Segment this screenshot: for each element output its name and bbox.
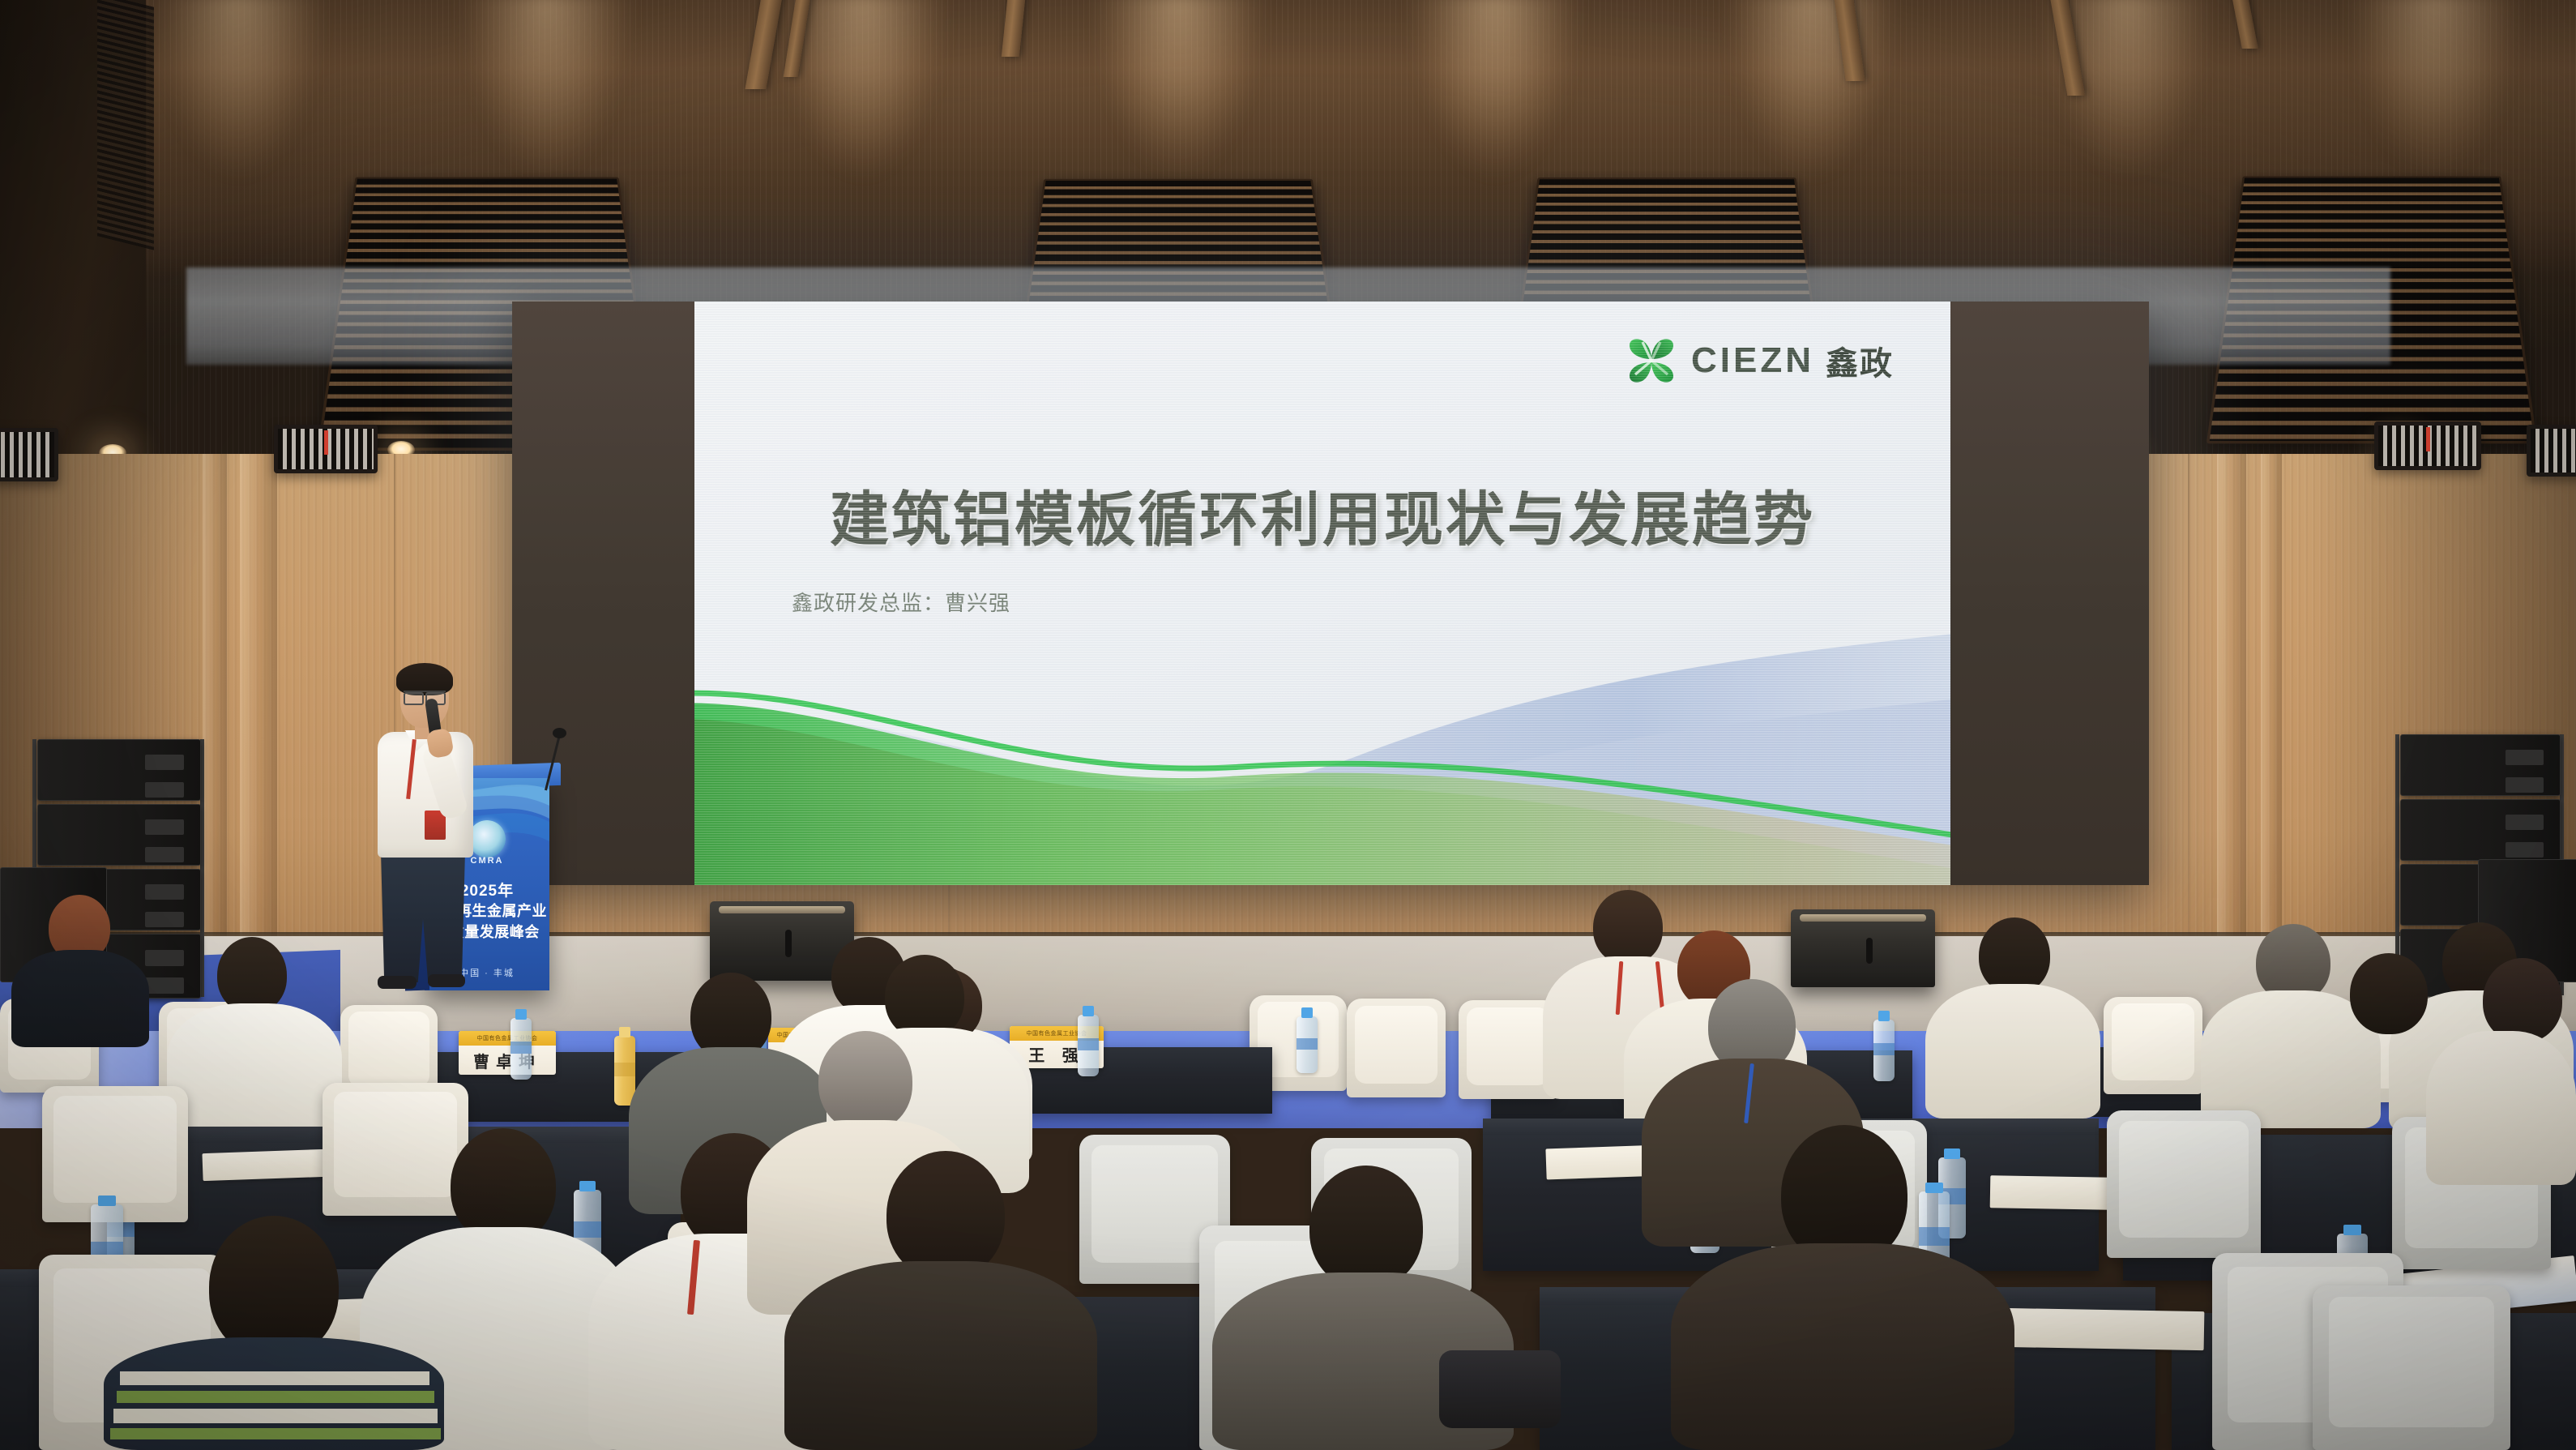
water-bottle bbox=[1873, 1020, 1895, 1081]
speaker-cabinet bbox=[37, 804, 201, 866]
wall-vent-grille bbox=[2374, 421, 2481, 470]
slide-title: 建筑铝模板循环利用现状与发展趋势 bbox=[694, 472, 1950, 558]
ciezn-pinwheel-icon bbox=[1625, 334, 1678, 387]
person-head bbox=[451, 1128, 556, 1243]
person-head bbox=[217, 937, 287, 1013]
wall-vent-grille bbox=[2527, 425, 2576, 477]
wall-pilaster bbox=[240, 454, 277, 989]
podium-mic-head bbox=[553, 728, 566, 738]
slide-subtitle: 鑫政研发总监：曹兴强 bbox=[792, 587, 1010, 617]
conference-hall-photo: CIEZN 鑫政 建筑铝模板循环利用现状与发展趋势 鑫政研发总监：曹兴强 CMR… bbox=[0, 0, 2576, 1450]
wall-pilaster bbox=[2217, 454, 2246, 989]
presenter-eyeglasses bbox=[404, 691, 446, 703]
wall-vent-grille bbox=[0, 428, 58, 481]
shirt-stripe bbox=[117, 1391, 434, 1403]
slide-logo: CIEZN 鑫政 bbox=[1625, 334, 1894, 387]
name-card-org: 中国有色金属工业协会 bbox=[459, 1031, 556, 1046]
person-head bbox=[1309, 1166, 1423, 1289]
speaker-cabinet bbox=[2400, 734, 2561, 796]
person-head bbox=[1593, 890, 1663, 965]
person-torso bbox=[2426, 1031, 2576, 1185]
cmra-logo-text: CMRA bbox=[471, 856, 504, 866]
person-torso bbox=[1671, 1243, 2014, 1450]
person-torso bbox=[11, 950, 149, 1047]
presentation-slide: CIEZN 鑫政 建筑铝模板循环利用现状与发展趋势 鑫政研发总监：曹兴强 bbox=[694, 302, 1950, 885]
chair bbox=[2107, 1110, 2261, 1258]
chair bbox=[1347, 999, 1446, 1097]
person-head bbox=[818, 1031, 912, 1131]
cmra-logo-icon bbox=[468, 820, 506, 858]
floor-bag bbox=[1439, 1350, 1561, 1428]
wall-pilaster bbox=[2261, 454, 2282, 989]
led-screen: CIEZN 鑫政 建筑铝模板循环利用现状与发展趋势 鑫政研发总监：曹兴强 bbox=[512, 302, 2149, 885]
water-bottle bbox=[1297, 1016, 1318, 1073]
ceiling-grille bbox=[97, 0, 154, 250]
chair bbox=[2104, 997, 2202, 1094]
presenter-shoe bbox=[428, 974, 465, 987]
ceiling-wash-light bbox=[146, 0, 332, 259]
name-card: 中国有色金属工业协会 曹卓坤 bbox=[459, 1031, 556, 1075]
speaker-cabinet bbox=[37, 739, 201, 801]
water-bottle bbox=[511, 1018, 532, 1080]
logo-chinese-text: 鑫政 bbox=[1826, 337, 1894, 384]
stage-monitor-speaker-right bbox=[1791, 909, 1935, 987]
wall-vent-grille bbox=[274, 425, 378, 473]
person-torso bbox=[1925, 984, 2100, 1119]
wall-seam bbox=[2188, 454, 2189, 989]
logo-latin-text: CIEZN bbox=[1691, 340, 1814, 381]
presenter-shoe bbox=[378, 976, 417, 989]
shirt-stripe bbox=[110, 1428, 441, 1439]
person-head bbox=[2483, 958, 2562, 1042]
person-torso bbox=[167, 1003, 342, 1133]
name-card-name: 曹卓坤 bbox=[459, 1046, 556, 1075]
speaker-cabinet bbox=[2400, 799, 2561, 861]
logo-wordmark: CIEZN 鑫政 bbox=[1691, 337, 1894, 384]
person-head bbox=[885, 955, 964, 1039]
notepad bbox=[2001, 1308, 2205, 1350]
person-head bbox=[1979, 917, 2050, 994]
slide-wave-graphic bbox=[694, 618, 1950, 885]
led-screen-dark-panel-right bbox=[1950, 302, 2149, 885]
person-head bbox=[886, 1151, 1005, 1279]
chair bbox=[2313, 1285, 2510, 1450]
chair bbox=[323, 1083, 468, 1216]
water-bottle bbox=[1078, 1015, 1099, 1076]
tea-bottle bbox=[614, 1036, 635, 1106]
person-torso bbox=[784, 1261, 1097, 1450]
shirt-stripe bbox=[113, 1409, 438, 1423]
person-head bbox=[2350, 953, 2428, 1034]
shirt-stripe bbox=[120, 1371, 429, 1385]
